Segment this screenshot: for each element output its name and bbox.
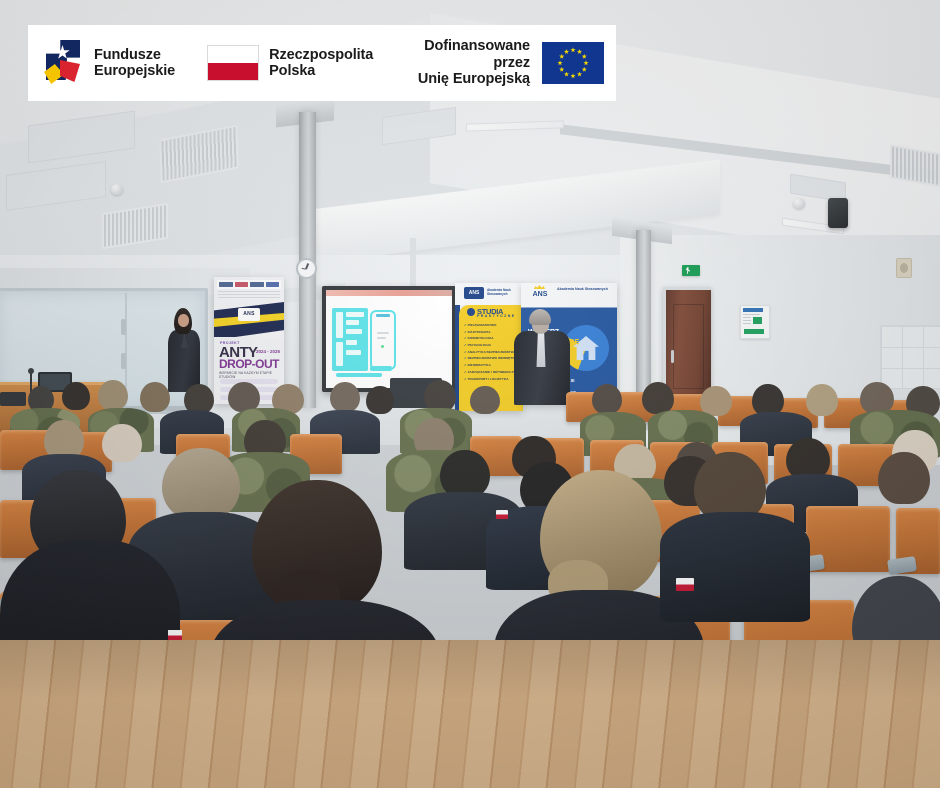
audience-head bbox=[140, 382, 170, 412]
audience-head bbox=[642, 382, 674, 414]
mini-fe-logo bbox=[219, 282, 233, 287]
program-item: FIZJOTERAPIA bbox=[464, 331, 521, 334]
fundusze-europejskie-label: FunduszeEuropejskie bbox=[94, 47, 175, 80]
eu-line1: Dofinansowane przez bbox=[424, 38, 530, 70]
eu-cofinancing-label: Dofinansowane przezUnię Europejską bbox=[387, 38, 530, 87]
lecture-hall-photograph: ANS PROJEKT ANTY 2024 - 2025 DROP-OUT WS… bbox=[0, 0, 940, 788]
audience-head bbox=[806, 384, 838, 416]
lectern-equipment bbox=[0, 392, 26, 406]
pl-line2: Polska bbox=[269, 63, 315, 79]
polish-flag-patch bbox=[676, 578, 694, 591]
audience-head bbox=[440, 450, 490, 498]
microphone-head bbox=[28, 368, 34, 374]
rzeczpospolita-polska-logo: RzeczpospolitaPolska bbox=[175, 45, 373, 81]
emergency-exit-sign bbox=[682, 265, 700, 276]
fe-line2: Europejskie bbox=[94, 63, 175, 79]
eu-star-icon bbox=[564, 49, 570, 55]
wall-grid-panel bbox=[880, 325, 940, 389]
fundusze-europejskie-icon bbox=[40, 40, 86, 86]
banner-subtitle: WSPARCIE NA KAŻDYM ETAPIE STUDIÓW bbox=[219, 371, 280, 379]
program-item: ANALITYKA BEZPIECZEŃSTWA bbox=[464, 351, 521, 354]
eu-star-icon bbox=[582, 54, 588, 60]
eu-star-icon bbox=[583, 60, 589, 66]
ceiling-spot-1 bbox=[111, 184, 123, 195]
program-item: KOSMETOLOGIA bbox=[464, 337, 521, 340]
slide-surface bbox=[326, 296, 452, 388]
ans-logo: ANS bbox=[464, 287, 484, 299]
running-man-icon bbox=[686, 267, 690, 274]
slide-footer-bar bbox=[336, 373, 382, 377]
polish-flag-patch bbox=[496, 510, 508, 519]
eu-star-icon bbox=[559, 54, 565, 60]
fundusze-europejskie-logo: FunduszeEuropejskie bbox=[40, 40, 175, 86]
program-item: PIELĘGNIARSTWO bbox=[464, 324, 521, 327]
program-item: ZARZĄDZANIE I INŻYNIERIA PRODUKCJI bbox=[464, 371, 521, 374]
eu-funding-logo-strip: FunduszeEuropejskie RzeczpospolitaPolska… bbox=[28, 25, 616, 101]
mini-partner-logo bbox=[250, 282, 264, 287]
european-union-flag-icon bbox=[542, 42, 604, 84]
mini-pl-logo bbox=[235, 282, 249, 287]
audience-head bbox=[878, 452, 930, 504]
audience-head bbox=[98, 380, 128, 410]
wall-loudspeaker bbox=[828, 198, 848, 228]
wall-utility-box bbox=[896, 258, 912, 278]
notice-header bbox=[743, 308, 763, 312]
wall-notice-board bbox=[740, 305, 770, 339]
floor-shading bbox=[0, 640, 940, 788]
audience-head bbox=[366, 386, 394, 414]
banner-years: 2024 - 2025 bbox=[256, 349, 280, 354]
audience-head bbox=[470, 386, 500, 414]
audience-head bbox=[162, 448, 240, 520]
program-item: TRANSPORT I LOGISTYKA bbox=[464, 378, 521, 381]
mini-eu-logo bbox=[266, 282, 280, 287]
eu-star-icon bbox=[577, 49, 583, 55]
rzeczpospolita-polska-label: RzeczpospolitaPolska bbox=[269, 47, 373, 80]
audience-body-navy bbox=[660, 512, 810, 622]
ceiling-spot-2 bbox=[793, 198, 805, 209]
banner-subtitle: PRAKTYCZNE bbox=[477, 315, 516, 319]
program-item: BEZPIECZEŃSTWO WEWNĘTRZNE bbox=[464, 357, 521, 360]
eu-cofinancing-logo: Dofinansowane przezUnię Europejską bbox=[373, 38, 604, 87]
eu-star-icon bbox=[570, 47, 576, 53]
eu-star-icon bbox=[570, 73, 576, 79]
program-item: PSYCHOLOGIA bbox=[464, 344, 521, 347]
notice-footer bbox=[744, 329, 764, 334]
eu-star-icon bbox=[559, 67, 565, 73]
audience-head bbox=[102, 424, 142, 462]
ans-full-name: Akademia Nauk Stosowanych bbox=[557, 287, 608, 292]
eu-line2: Unię Europejską bbox=[418, 71, 530, 87]
audience-head bbox=[62, 382, 90, 410]
pl-line1: Rzeczpospolita bbox=[269, 47, 373, 63]
poland-flag-icon bbox=[207, 45, 259, 81]
studia-mark-icon bbox=[467, 308, 475, 316]
banner-funding-logos bbox=[217, 280, 281, 289]
banner-title-line2: DROP-OUT bbox=[219, 358, 279, 370]
banner-fineprint bbox=[218, 291, 280, 300]
eu-star-icon bbox=[564, 72, 570, 78]
eu-star-icon bbox=[582, 67, 588, 73]
notice-pictogram bbox=[753, 317, 762, 324]
presenter-woman-face bbox=[178, 314, 189, 327]
audience-head bbox=[592, 384, 622, 414]
ans-logo: ANS bbox=[527, 287, 553, 302]
banner-header: ANS Akademia Nauk Stosowanych bbox=[455, 283, 523, 305]
eu-star-icon bbox=[577, 72, 583, 78]
wall-clock bbox=[296, 258, 317, 279]
slide-phone-mockup bbox=[370, 310, 396, 370]
door-panel bbox=[673, 304, 704, 389]
program-item: INFORMATYKA bbox=[464, 364, 521, 367]
ans-logo: ANS bbox=[238, 308, 260, 321]
projection-screen bbox=[322, 286, 456, 392]
audience-head bbox=[330, 382, 360, 412]
eu-star-icon bbox=[557, 60, 563, 66]
fe-line1: Fundusze bbox=[94, 47, 161, 63]
slide-phone-base bbox=[370, 366, 392, 371]
program-list: PIELĘGNIARSTWO FIZJOTERAPIA KOSMETOLOGIA… bbox=[464, 324, 521, 384]
ans-full-name: Akademia Nauk Stosowanych bbox=[487, 288, 523, 296]
door-handle bbox=[671, 350, 674, 363]
